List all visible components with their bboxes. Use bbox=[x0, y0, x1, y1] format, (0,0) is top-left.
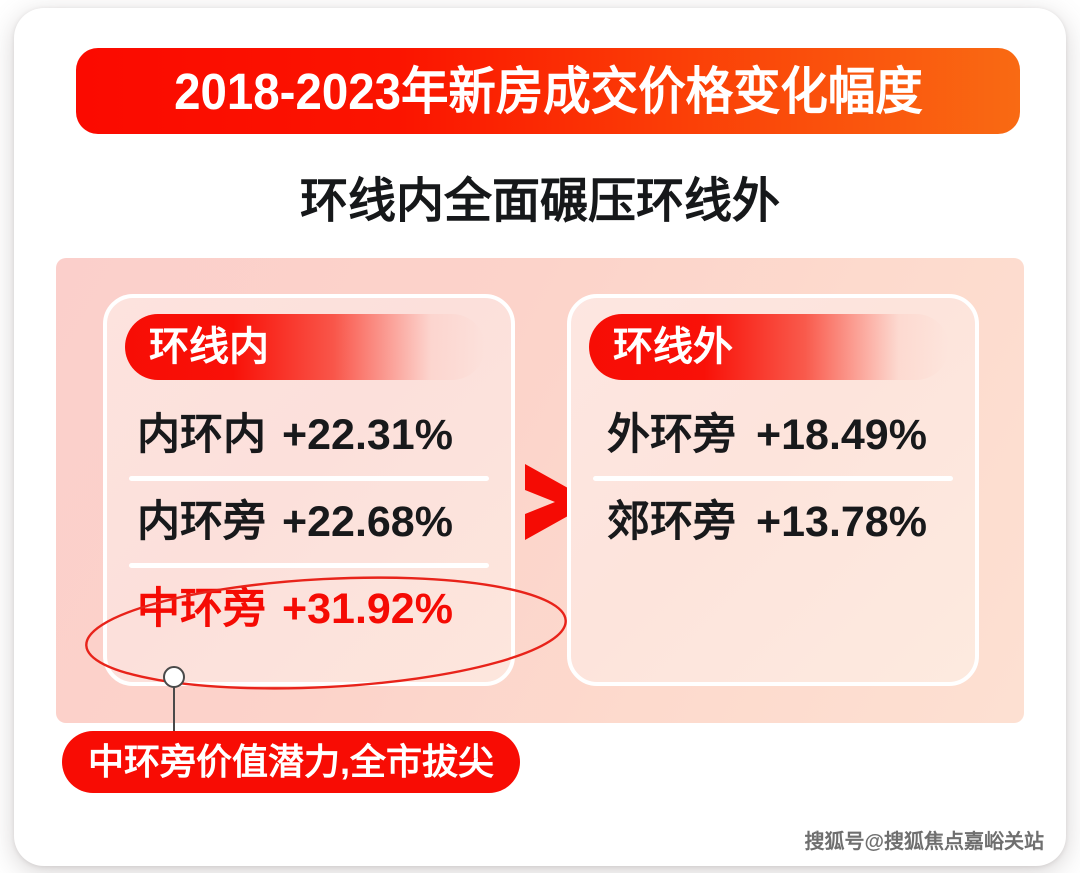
table-row: 内环旁 +22.68% bbox=[107, 481, 511, 563]
row-value: +13.78% bbox=[756, 501, 927, 544]
row-value: +22.31% bbox=[282, 414, 453, 457]
connector-line bbox=[173, 686, 175, 734]
table-row: 内环内 +22.31% bbox=[107, 394, 511, 476]
badge-inner-ring-label: 环线内 bbox=[125, 327, 269, 367]
panel-inner-ring: 环线内 内环内 +22.31% 内环旁 +22.68% 中环旁 +31.92% bbox=[103, 294, 515, 686]
row-value: +31.92% bbox=[282, 588, 453, 631]
page-title: 2018-2023年新房成交价格变化幅度 bbox=[174, 66, 923, 117]
badge-inner-ring: 环线内 bbox=[125, 314, 485, 380]
panel-outer-ring: 环线外 外环旁 +18.49% 郊环旁 +13.78% bbox=[567, 294, 979, 686]
watermark: 搜狐号@搜狐焦点嘉峪关站 bbox=[804, 825, 1044, 854]
table-row-highlighted: 中环旁 +31.92% bbox=[107, 568, 511, 650]
row-label: 内环内 bbox=[137, 414, 266, 457]
callout-text: 中环旁价值潜力,全市拔尖 bbox=[88, 744, 494, 780]
badge-outer-ring: 环线外 bbox=[589, 314, 949, 380]
connector-dot-icon bbox=[163, 666, 185, 688]
row-label: 外环旁 bbox=[607, 414, 736, 457]
inner-ring-rows: 内环内 +22.31% 内环旁 +22.68% 中环旁 +31.92% bbox=[107, 394, 511, 650]
row-value: +18.49% bbox=[756, 414, 927, 457]
row-value: +22.68% bbox=[282, 501, 453, 544]
comparison-container: 环线内 内环内 +22.31% 内环旁 +22.68% 中环旁 +31.92% bbox=[56, 258, 1024, 723]
table-row: 郊环旁 +13.78% bbox=[571, 481, 975, 563]
infographic-poster: 2018-2023年新房成交价格变化幅度 环线内全面碾压环线外 环线内 内环内 … bbox=[14, 8, 1066, 866]
callout-pill: 中环旁价值潜力,全市拔尖 bbox=[62, 731, 520, 793]
table-row: 外环旁 +18.49% bbox=[571, 394, 975, 476]
row-label: 郊环旁 bbox=[607, 501, 736, 544]
title-banner: 2018-2023年新房成交价格变化幅度 bbox=[76, 48, 1020, 134]
row-label: 中环旁 bbox=[137, 588, 266, 631]
subtitle: 环线内全面碾压环线外 bbox=[14, 176, 1066, 229]
outer-ring-rows: 外环旁 +18.49% 郊环旁 +13.78% bbox=[571, 394, 975, 563]
badge-outer-ring-label: 环线外 bbox=[589, 327, 733, 367]
row-label: 内环旁 bbox=[137, 501, 266, 544]
